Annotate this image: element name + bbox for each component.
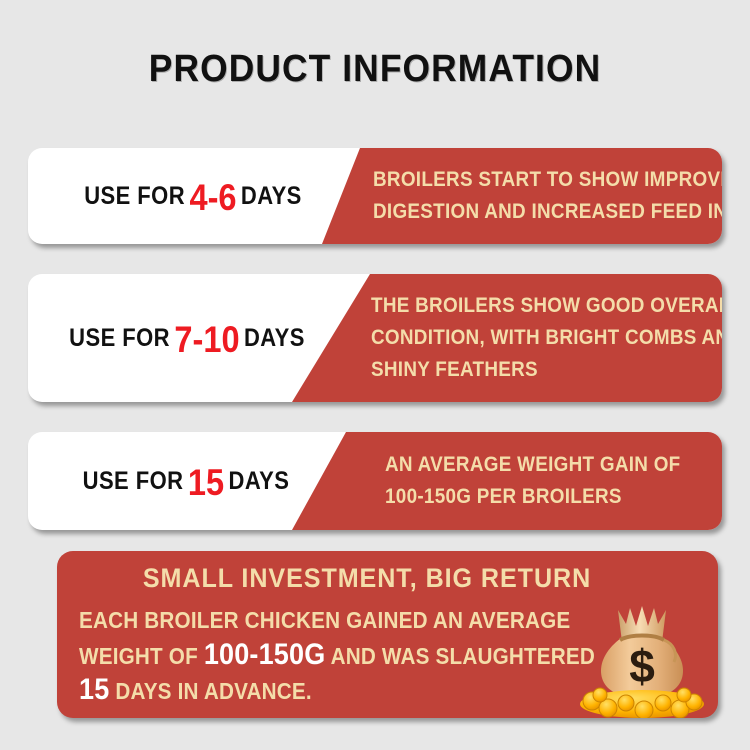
summary-weight-highlight: 100-150G [204, 638, 326, 671]
step-description-2: THE BROILERS SHOW GOOD OVERALL CONDITION… [371, 274, 722, 402]
money-bag-icon: $ [578, 600, 706, 718]
summary-heading: SMALL INVESTMENT, BIG RETURN [79, 563, 656, 594]
step-description-line: SHINY FEATHERS [371, 354, 722, 386]
dollar-sign: $ [629, 640, 655, 692]
summary-line2-prefix: WEIGHT OF [79, 643, 198, 669]
step-label-suffix: DAYS [229, 467, 290, 496]
summary-body: EACH BROILER CHICKEN GAINED AN AVERAGE W… [79, 603, 637, 710]
step-description-3: AN AVERAGE WEIGHT GAIN OF 100-150G PER B… [385, 432, 681, 530]
step-card-3: USE FOR 15 DAYS AN AVERAGE WEIGHT GAIN O… [28, 432, 722, 530]
step-duration-label-1: USE FOR 4-6 DAYS [48, 148, 338, 244]
step-description-1: BROILERS START TO SHOW IMPROVED DIGESTIO… [373, 148, 722, 244]
step-duration-value: 7-10 [170, 321, 244, 358]
step-label-prefix: USE FOR [84, 182, 185, 211]
step-description-line: CONDITION, WITH BRIGHT COMBS AND [371, 322, 722, 354]
coin [655, 695, 671, 711]
summary-panel: SMALL INVESTMENT, BIG RETURN EACH BROILE… [57, 551, 718, 718]
summary-line3-suffix: DAYS IN ADVANCE. [115, 678, 312, 704]
step-duration-label-2: USE FOR 7-10 DAYS [47, 274, 327, 402]
step-card-1: USE FOR 4-6 DAYS BROILERS START TO SHOW … [28, 148, 722, 244]
step-description-line: 100-150G PER BROILERS [385, 481, 681, 513]
summary-line-1: EACH BROILER CHICKEN GAINED AN AVERAGE [79, 603, 637, 639]
step-description-line: AN AVERAGE WEIGHT GAIN OF [385, 449, 681, 481]
coin [677, 688, 691, 702]
summary-days-highlight: 15 [79, 673, 109, 706]
coin [593, 688, 607, 702]
step-label-suffix: DAYS [241, 182, 302, 211]
step-description-line: THE BROILERS SHOW GOOD OVERALL [371, 290, 722, 322]
page-title: PRODUCT INFORMATION [26, 48, 724, 91]
coin [635, 701, 653, 718]
summary-line2-suffix: AND WAS SLAUGHTERED [331, 643, 595, 669]
summary-line-2: WEIGHT OF 100-150G AND WAS SLAUGHTERED [79, 639, 637, 675]
step-duration-value: 4-6 [185, 179, 241, 216]
step-card-2: USE FOR 7-10 DAYS THE BROILERS SHOW GOOD… [28, 274, 722, 402]
step-description-line: DIGESTION AND INCREASED FEED INTAKE. [373, 196, 722, 228]
coin [618, 695, 634, 711]
step-label-suffix: DAYS [244, 324, 305, 353]
step-label-prefix: USE FOR [69, 324, 170, 353]
step-label-prefix: USE FOR [83, 467, 184, 496]
step-duration-value: 15 [183, 464, 228, 501]
step-description-line: BROILERS START TO SHOW IMPROVED [373, 164, 722, 196]
step-duration-label-3: USE FOR 15 DAYS [47, 432, 325, 530]
summary-line-3: 15 DAYS IN ADVANCE. [79, 674, 637, 710]
product-information-infographic: PRODUCT INFORMATION USE FOR 4-6 DAYS BRO… [0, 0, 750, 750]
